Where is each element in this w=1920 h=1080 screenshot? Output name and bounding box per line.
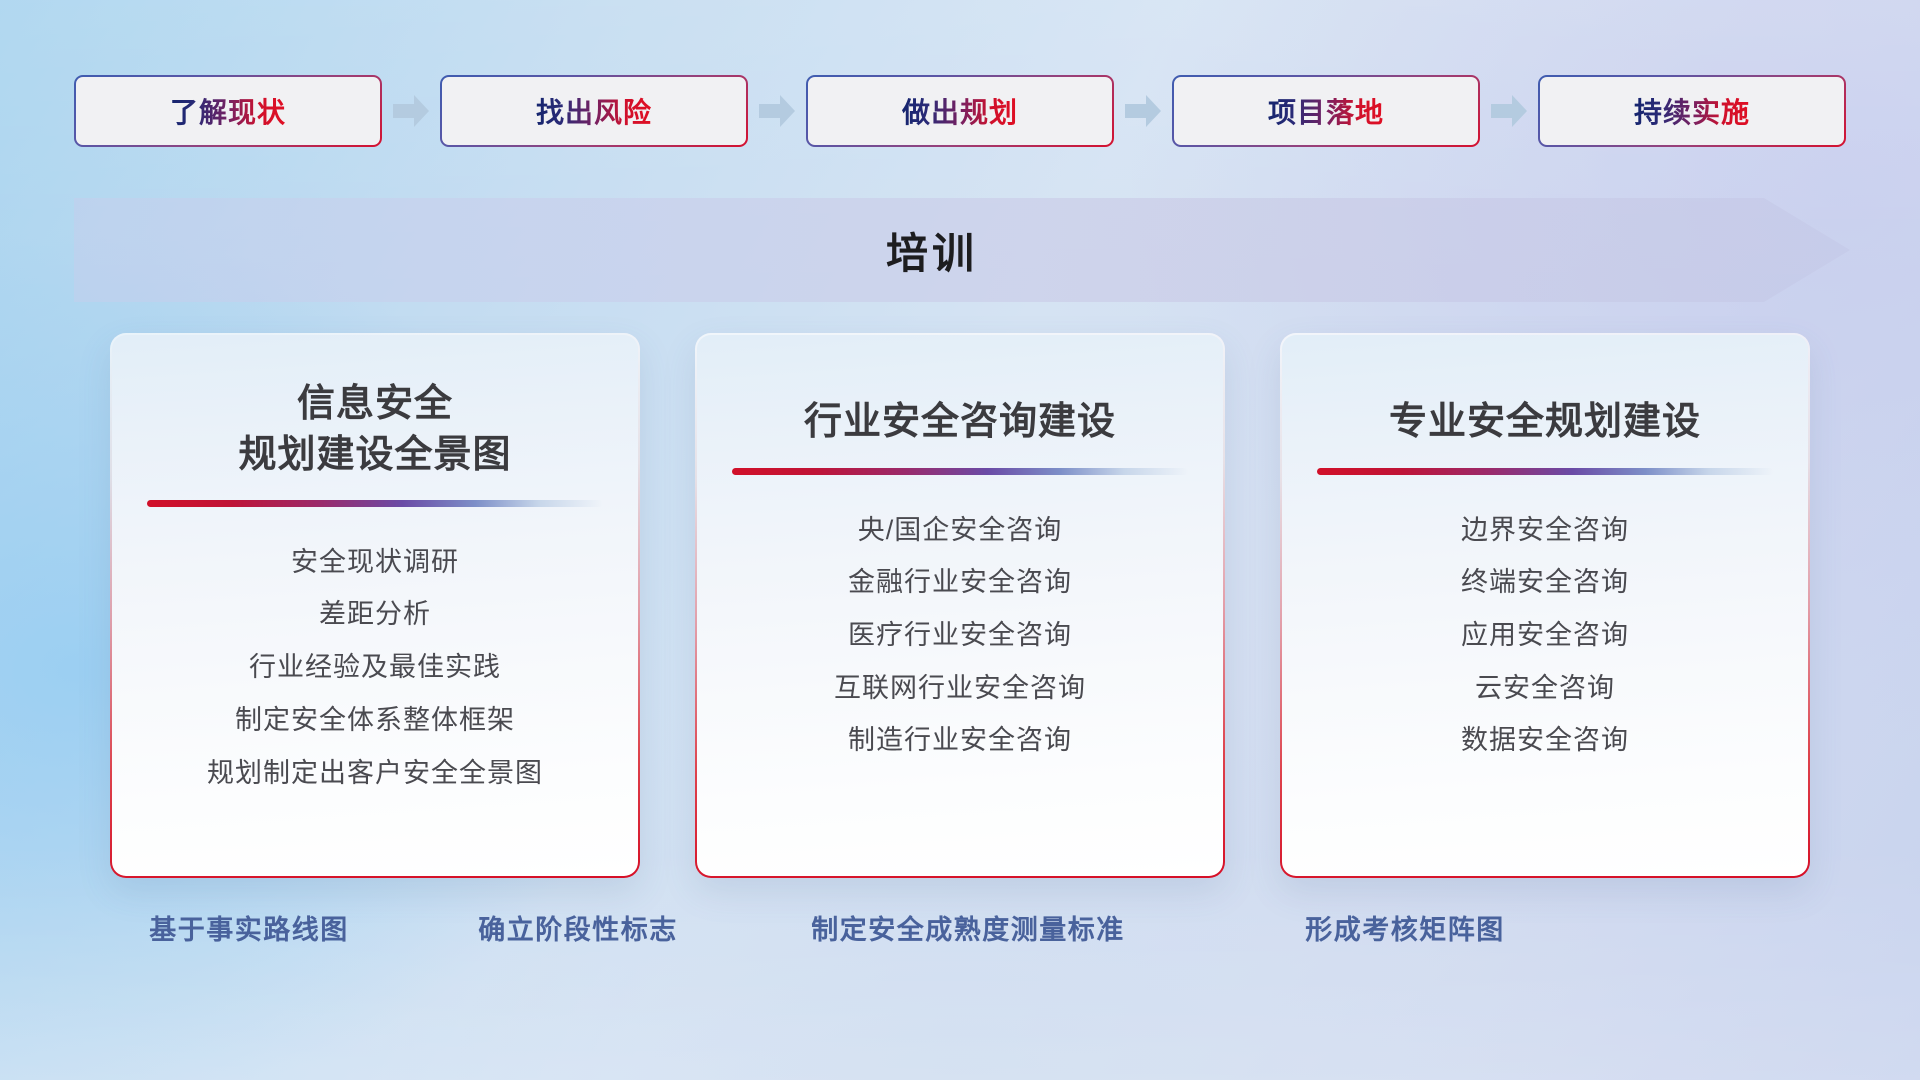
footer-caption-3: 制定安全成熟度测量标准 — [811, 908, 1125, 947]
right-arrow-icon — [1123, 93, 1163, 129]
list-item: 行业经验及最佳实践 — [249, 646, 501, 690]
process-step-row: 了解现状 找出风险 做出规划 项目落地 持续实施 — [74, 75, 1846, 147]
service-card-1[interactable]: 信息安全 规划建设全景图 安全现状调研 差距分析 行业经验及最佳实践 制定安全体… — [110, 333, 640, 878]
service-card-1-body: 信息安全 规划建设全景图 安全现状调研 差距分析 行业经验及最佳实践 制定安全体… — [112, 335, 637, 875]
list-item: 数据安全咨询 — [1461, 719, 1629, 763]
step-label-3: 做出规划 — [902, 91, 1018, 131]
step-label-4: 项目落地 — [1268, 91, 1384, 131]
training-banner: 培训 — [74, 198, 1850, 302]
list-item: 差距分析 — [319, 593, 431, 637]
list-item: 终端安全咨询 — [1461, 561, 1629, 605]
service-card-1-divider — [147, 500, 603, 507]
list-item: 应用安全咨询 — [1461, 614, 1629, 658]
list-item: 央/国企安全咨询 — [858, 509, 1063, 553]
list-item: 金融行业安全咨询 — [848, 561, 1072, 605]
list-item: 制造行业安全咨询 — [848, 719, 1072, 763]
service-card-3-list: 边界安全咨询 终端安全咨询 应用安全咨询 云安全咨询 数据安全咨询 — [1282, 509, 1807, 764]
right-arrow-icon — [1489, 93, 1529, 129]
list-item: 医疗行业安全咨询 — [848, 614, 1072, 658]
training-banner-label: 培训 — [74, 198, 1850, 302]
service-card-1-title: 信息安全 规划建设全景图 — [218, 379, 531, 479]
right-arrow-icon — [757, 93, 797, 129]
step-box-1[interactable]: 了解现状 — [74, 75, 382, 147]
list-item: 规划制定出客户安全全景图 — [207, 752, 543, 796]
service-card-3-body: 专业安全规划建设 边界安全咨询 终端安全咨询 应用安全咨询 云安全咨询 数据安全… — [1282, 335, 1807, 875]
footer-caption-4: 形成考核矩阵图 — [1305, 908, 1505, 947]
service-card-2-title: 行业安全咨询建设 — [784, 397, 1136, 447]
step-box-2[interactable]: 找出风险 — [440, 75, 748, 147]
footer-caption-2: 确立阶段性标志 — [478, 908, 678, 947]
step-label-5: 持续实施 — [1634, 91, 1750, 131]
list-item: 制定安全体系整体框架 — [235, 699, 515, 743]
footer-caption-row: 基于事实路线图 确立阶段性标志 制定安全成熟度测量标准 形成考核矩阵图 — [0, 908, 1920, 970]
list-item: 互联网行业安全咨询 — [834, 667, 1086, 711]
step-box-5[interactable]: 持续实施 — [1538, 75, 1846, 147]
service-card-3-divider — [1317, 468, 1773, 475]
service-card-2-divider — [732, 468, 1188, 475]
footer-caption-1: 基于事实路线图 — [149, 908, 349, 947]
step-box-4[interactable]: 项目落地 — [1172, 75, 1480, 147]
service-card-3-title: 专业安全规划建设 — [1369, 397, 1721, 447]
step-box-3[interactable]: 做出规划 — [806, 75, 1114, 147]
step-label-2: 找出风险 — [536, 91, 652, 131]
service-card-1-list: 安全现状调研 差距分析 行业经验及最佳实践 制定安全体系整体框架 规划制定出客户… — [112, 541, 637, 796]
service-card-2-list: 央/国企安全咨询 金融行业安全咨询 医疗行业安全咨询 互联网行业安全咨询 制造行… — [697, 509, 1222, 764]
list-item: 边界安全咨询 — [1461, 509, 1629, 553]
list-item: 云安全咨询 — [1475, 667, 1615, 711]
service-card-2[interactable]: 行业安全咨询建设 央/国企安全咨询 金融行业安全咨询 医疗行业安全咨询 互联网行… — [695, 333, 1225, 878]
service-card-row: 信息安全 规划建设全景图 安全现状调研 差距分析 行业经验及最佳实践 制定安全体… — [110, 333, 1810, 878]
service-card-3[interactable]: 专业安全规划建设 边界安全咨询 终端安全咨询 应用安全咨询 云安全咨询 数据安全… — [1280, 333, 1810, 878]
list-item: 安全现状调研 — [291, 541, 459, 585]
step-label-1: 了解现状 — [170, 91, 286, 131]
right-arrow-icon — [391, 93, 431, 129]
service-card-2-body: 行业安全咨询建设 央/国企安全咨询 金融行业安全咨询 医疗行业安全咨询 互联网行… — [697, 335, 1222, 875]
